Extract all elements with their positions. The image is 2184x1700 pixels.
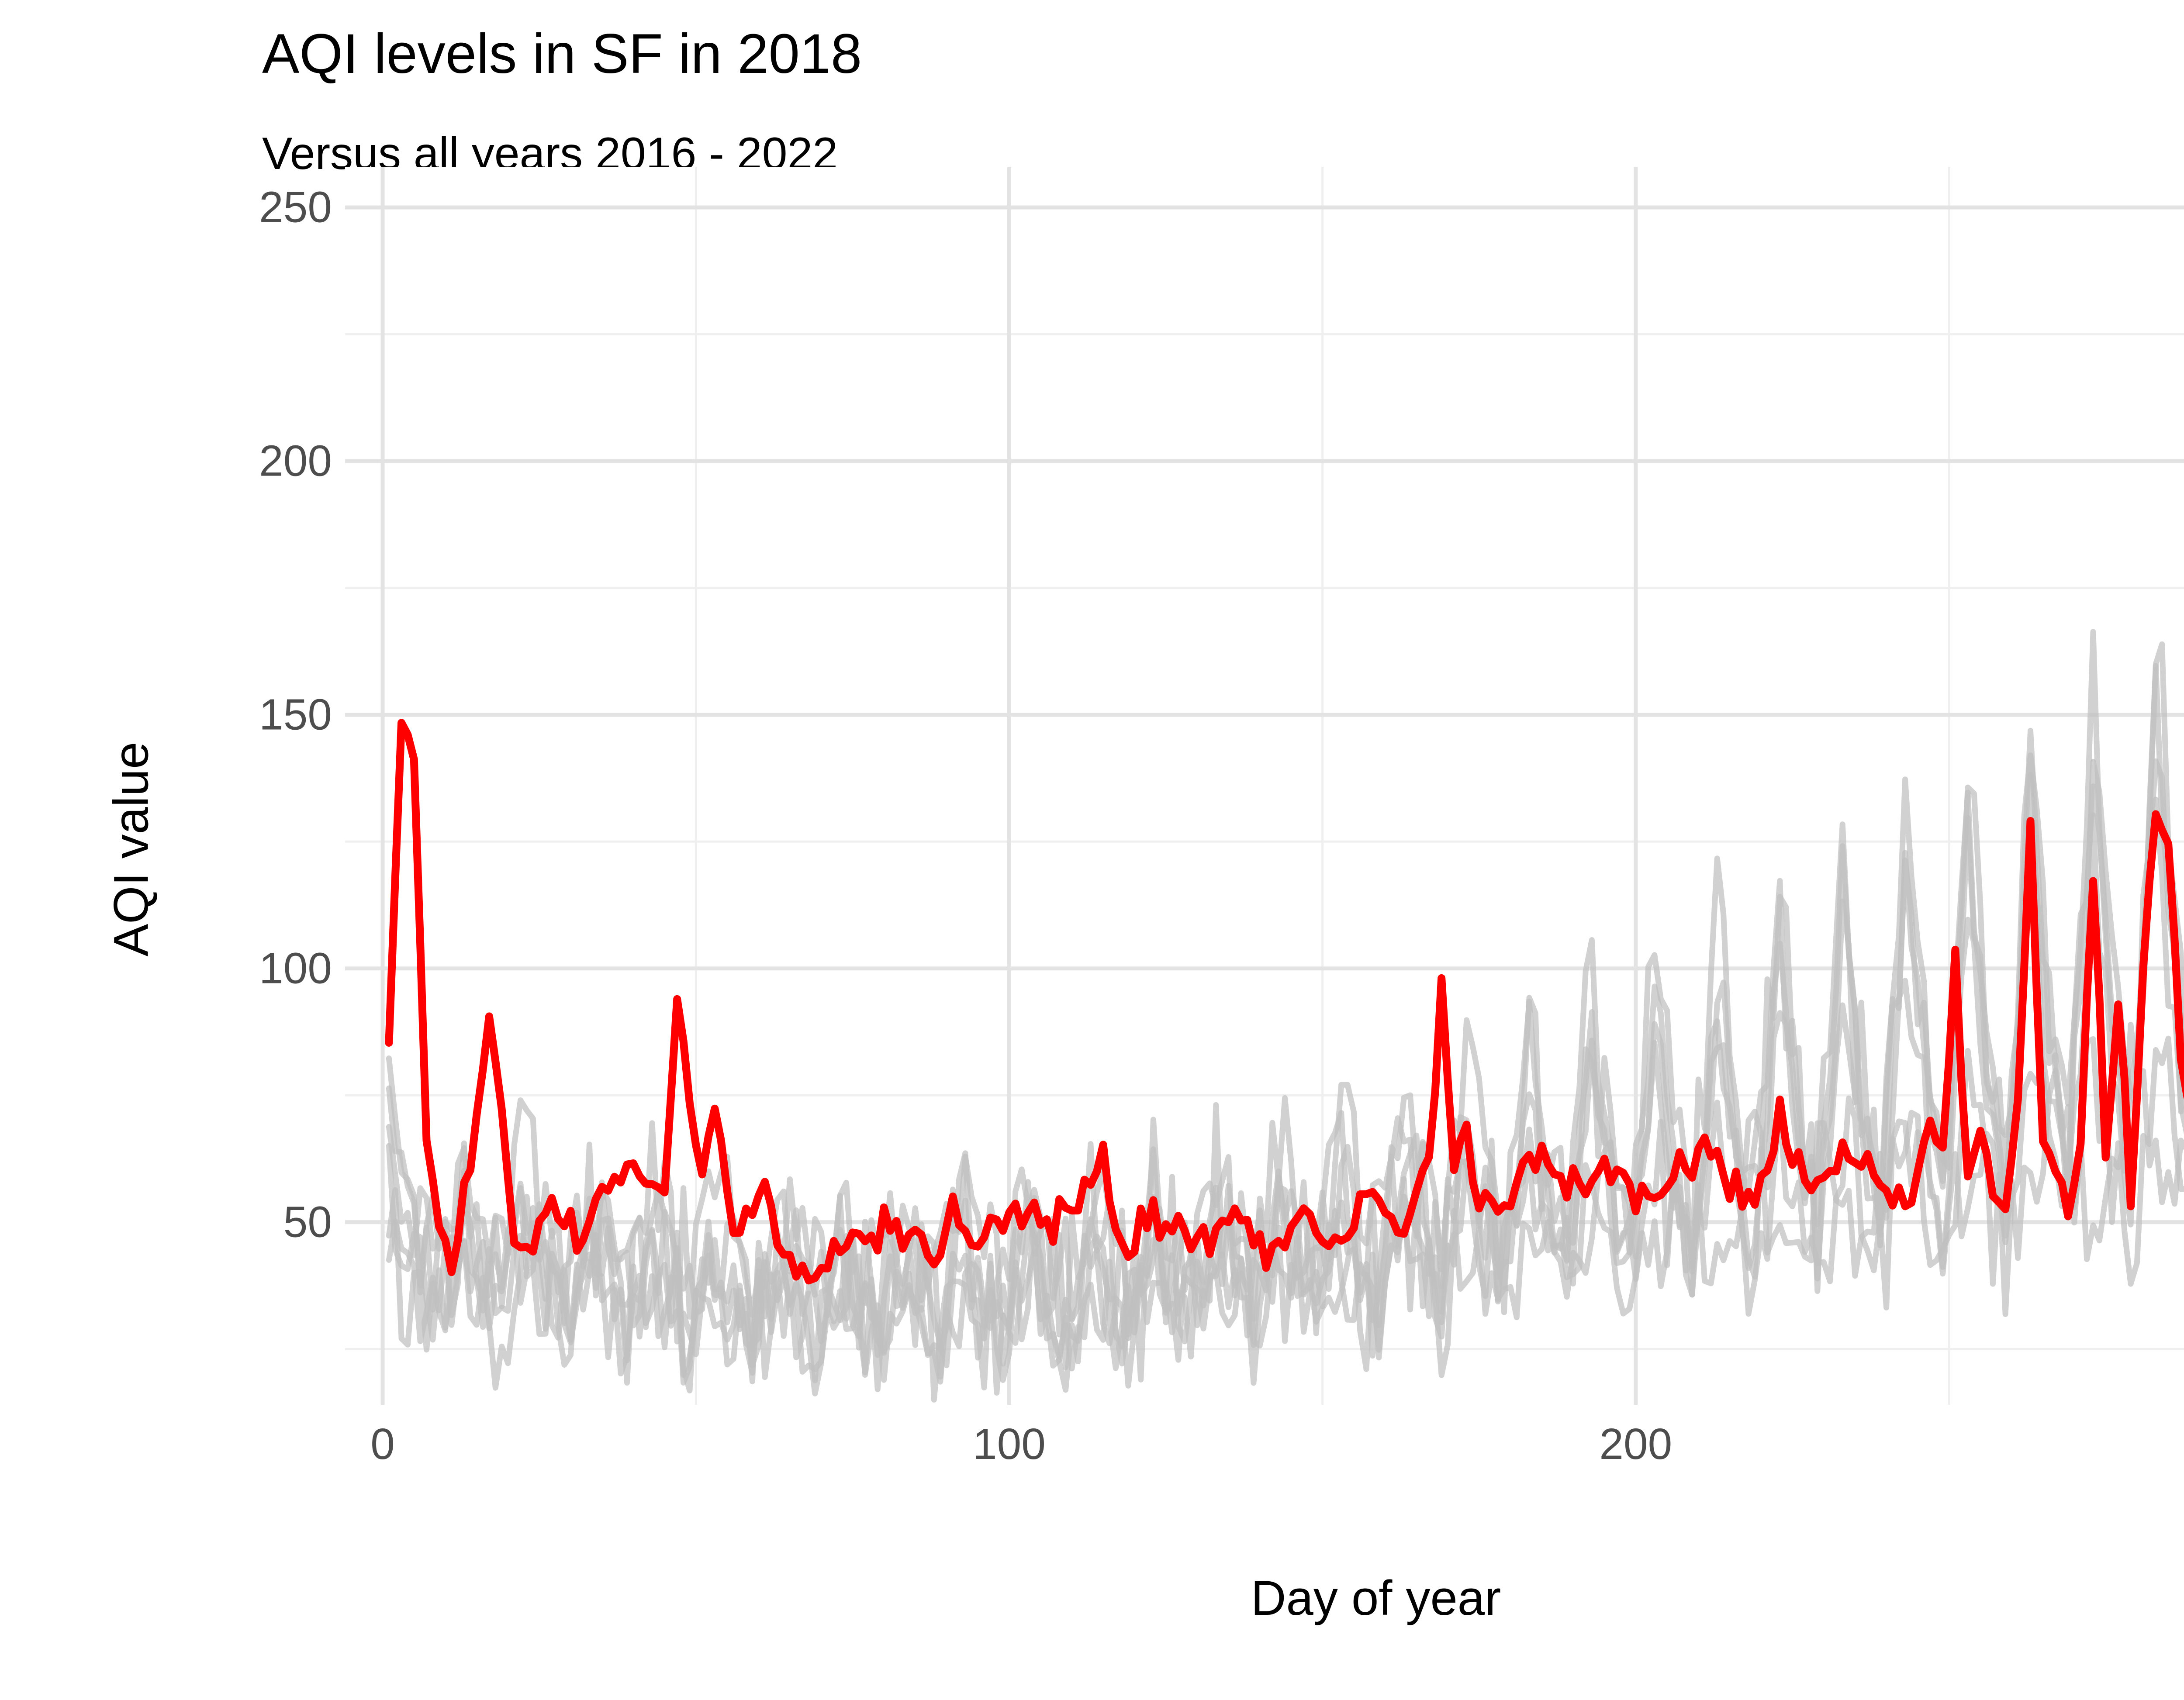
y-tick-label: 200: [149, 436, 332, 486]
plot-panel: [345, 167, 2184, 1405]
y-tick-label: 50: [149, 1197, 332, 1247]
y-tick-label: 100: [149, 943, 332, 993]
x-tick-label: 0: [370, 1419, 395, 1469]
page-title: AQI levels in SF in 2018: [262, 26, 862, 82]
plot-svg: [345, 167, 2184, 1405]
y-axis-tick-labels: 50100150200250: [87, 0, 332, 1700]
y-tick-label: 150: [149, 690, 332, 740]
chart-root: AQI levels in SF in 2018 Versus all year…: [0, 0, 2184, 1700]
x-tick-label: 200: [1599, 1419, 1672, 1469]
x-tick-label: 100: [973, 1419, 1046, 1469]
y-tick-label: 250: [149, 182, 332, 232]
